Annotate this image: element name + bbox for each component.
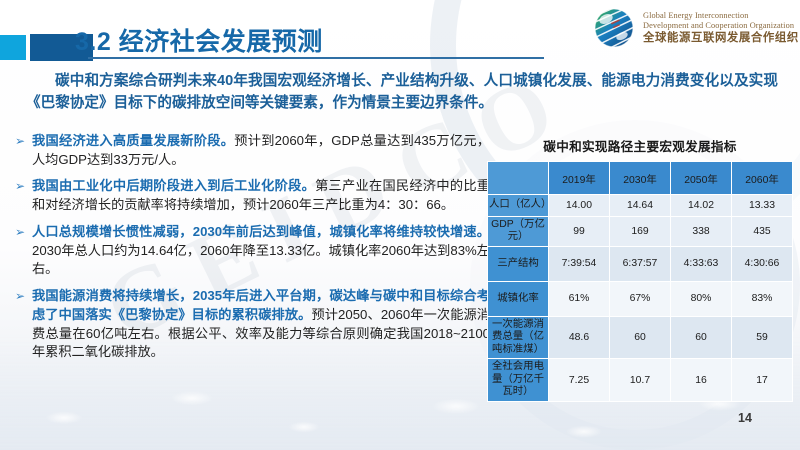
macro-indicator-table: 2019年2030年2050年2060年 人口（亿人）14.0014.6414.… xyxy=(487,161,793,402)
logo-text-block: Global Energy Interconnection Developmen… xyxy=(643,11,799,44)
table-cell: 60 xyxy=(610,317,670,358)
table-col-header: 2060年 xyxy=(732,162,792,194)
page-title: 3.2 经济社会发展预测 xyxy=(75,22,323,58)
table-cell: 10.7 xyxy=(610,359,670,400)
table-cell: 4:33:63 xyxy=(671,247,731,281)
slide-header: 3.2 经济社会发展预测 xyxy=(0,0,800,66)
table-cell: 14.64 xyxy=(610,195,670,216)
page-number: 14 xyxy=(738,411,752,425)
table-cell: 14.00 xyxy=(549,195,609,216)
bullet-item: ➢我国经济进入高质量发展新阶段。预计到2060年，GDP总量达到435万亿元，人… xyxy=(12,132,490,169)
table-row-header: GDP（万亿元） xyxy=(488,217,548,246)
bullet-item: ➢我国能源消费将持续增长，2035年后进入平台期，碳达峰与碳中和目标综合考虑了中… xyxy=(12,287,490,362)
logo-en-line-1: Global Energy Interconnection xyxy=(643,11,799,20)
bullet-arrow-icon: ➢ xyxy=(15,224,25,241)
table-cell: 435 xyxy=(732,217,792,246)
table-cell: 6:37:57 xyxy=(610,247,670,281)
table-cell: 16 xyxy=(671,359,731,400)
table-row-header: 城镇化率 xyxy=(488,282,548,316)
table-head: 2019年2030年2050年2060年 xyxy=(488,162,792,194)
table-cell: 61% xyxy=(549,282,609,316)
table-cell: 14.02 xyxy=(671,195,731,216)
table-caption: 碳中和实现路径主要宏观发展指标 xyxy=(487,136,793,155)
macro-indicator-block: 碳中和实现路径主要宏观发展指标 2019年2030年2050年2060年 人口（… xyxy=(487,136,793,402)
table-cell: 59 xyxy=(732,317,792,358)
logo-cn-name: 全球能源互联网发展合作组织 xyxy=(643,32,799,45)
table-header-row: 2019年2030年2050年2060年 xyxy=(488,162,792,194)
bullet-highlight: 我国经济进入高质量发展新阶段。 xyxy=(32,133,234,148)
table-cell: 338 xyxy=(671,217,731,246)
table-row: 一次能源消费总量（亿吨标准煤）48.6606059 xyxy=(488,317,792,358)
bullet-list: ➢我国经济进入高质量发展新阶段。预计到2060年，GDP总量达到435万亿元，人… xyxy=(12,132,490,362)
table-col-header: 2050年 xyxy=(671,162,731,194)
logo-en-line-2: Development and Cooperation Organization xyxy=(643,21,799,30)
table-cell: 4:30:66 xyxy=(732,247,792,281)
table-cell: 7.25 xyxy=(549,359,609,400)
table-cell: 60 xyxy=(671,317,731,358)
table-row: 人口（亿人）14.0014.6414.0213.33 xyxy=(488,195,792,216)
table-cell: 83% xyxy=(732,282,792,316)
table-row: 城镇化率61%67%80%83% xyxy=(488,282,792,316)
table-cell: 99 xyxy=(549,217,609,246)
table-cell: 7:39:54 xyxy=(549,247,609,281)
table-cell: 67% xyxy=(610,282,670,316)
bullet-highlight: 我国由工业化中后期阶段进入到后工业化阶段。 xyxy=(32,178,315,193)
bullet-highlight: 人口总规模增长惯性减弱，2030年前后达到峰值，城镇化率将维持较快增速。 xyxy=(32,224,490,239)
bullet-body: 2030年总人口约为14.64亿，2060年降至13.33亿。城镇化率2060年… xyxy=(32,243,490,277)
table-body: 人口（亿人）14.0014.6414.0213.33GDP（万亿元）991693… xyxy=(488,195,792,401)
globe-icon xyxy=(592,6,636,50)
slide-canvas: GEIDCO 3.2 经济社会发展预测 xyxy=(0,0,800,450)
table-row-header: 一次能源消费总量（亿吨标准煤） xyxy=(488,317,548,358)
table-row: 三产结构7:39:546:37:574:33:634:30:66 xyxy=(488,247,792,281)
lead-paragraph: 碳中和方案综合研判未来40年我国宏观经济增长、产业结构升级、人口城镇化发展、能源… xyxy=(26,70,778,114)
bullet-arrow-icon: ➢ xyxy=(15,288,25,305)
bullet-item: ➢人口总规模增长惯性减弱，2030年前后达到峰值，城镇化率将维持较快增速。203… xyxy=(12,223,490,279)
table-row-header: 人口（亿人） xyxy=(488,195,548,216)
table-cell: 13.33 xyxy=(732,195,792,216)
bullet-arrow-icon: ➢ xyxy=(15,178,25,195)
table-cell: 17 xyxy=(732,359,792,400)
bullet-arrow-icon: ➢ xyxy=(15,133,25,150)
organization-logo: Global Energy Interconnection Developmen… xyxy=(592,6,799,50)
table-col-header: 2030年 xyxy=(610,162,670,194)
table-cell: 80% xyxy=(671,282,731,316)
table-cell: 169 xyxy=(610,217,670,246)
table-cell: 48.6 xyxy=(549,317,609,358)
title-underline xyxy=(88,57,544,59)
table-row-header: 全社会用电量（万亿千瓦时） xyxy=(488,359,548,400)
bullet-item: ➢我国由工业化中后期阶段进入到后工业化阶段。第三产业在国民经济中的比重和对经济增… xyxy=(12,177,490,214)
accent-block-cyan xyxy=(0,35,26,60)
table-row: 全社会用电量（万亿千瓦时）7.2510.71617 xyxy=(488,359,792,400)
table-row-header: 三产结构 xyxy=(488,247,548,281)
table-corner-cell xyxy=(488,162,548,194)
table-row: GDP（万亿元）99169338435 xyxy=(488,217,792,246)
table-col-header: 2019年 xyxy=(549,162,609,194)
